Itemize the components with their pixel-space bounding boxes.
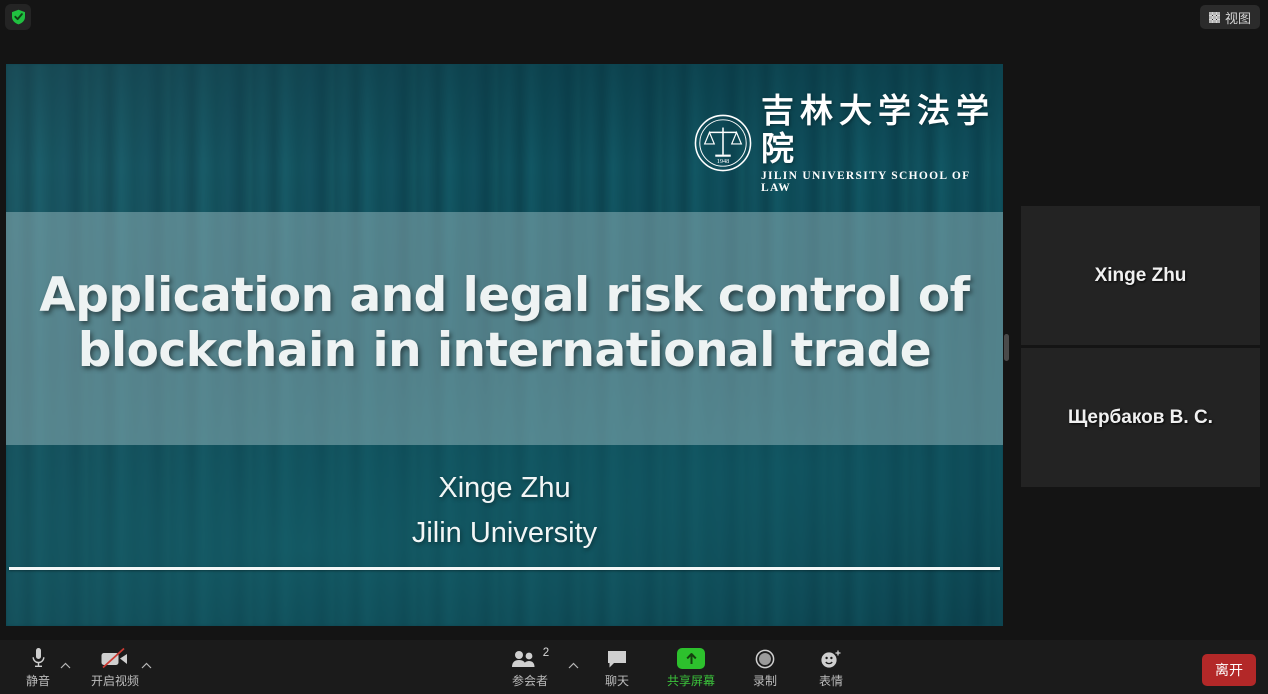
participant-tile[interactable]: Щербаков В. С.: [1021, 348, 1260, 487]
reactions-smiley-plus-icon: [820, 647, 842, 669]
logo-english-name: JILIN UNIVERSITY SCHOOL OF LAW: [761, 170, 1003, 194]
participant-name: Щербаков В. С.: [1068, 407, 1213, 429]
chat-bubble-icon: [606, 647, 628, 669]
video-off-icon: [100, 647, 130, 669]
scales-of-justice-crest-icon: 1948: [694, 114, 752, 172]
encryption-shield-button[interactable]: [5, 4, 31, 30]
record-button[interactable]: 录制: [734, 647, 796, 689]
participants-button[interactable]: ​ 2 参会者: [499, 647, 561, 689]
chevron-up-icon: [60, 662, 71, 669]
chevron-up-icon: [568, 662, 579, 669]
mute-label: 静音: [26, 672, 50, 689]
leave-meeting-label: 离开: [1215, 662, 1243, 678]
shared-screen-area[interactable]: 1948 吉林大学法学院 JILIN UNIVERSITY SCHOOL OF …: [6, 64, 1003, 626]
start-video-button[interactable]: 开启视频: [84, 647, 146, 689]
top-bar: 视图: [0, 0, 1268, 34]
audio-options-caret[interactable]: [60, 661, 71, 672]
view-button-label: 视图: [1225, 8, 1251, 27]
svg-text:1948: 1948: [717, 158, 730, 165]
view-button[interactable]: 视图: [1200, 5, 1260, 29]
panel-splitter-handle[interactable]: [1004, 334, 1009, 361]
participants-filmstrip: Xinge Zhu Щербаков В. С.: [1021, 206, 1260, 490]
chat-label: 聊天: [605, 672, 629, 689]
record-circle-icon: [755, 647, 775, 669]
share-screen-label: 共享屏幕: [667, 672, 715, 689]
start-video-label: 开启视频: [91, 672, 139, 689]
grid-icon: [1209, 12, 1220, 23]
microphone-icon: [31, 647, 46, 669]
slide-divider-line: [9, 567, 1000, 570]
video-options-caret[interactable]: [141, 661, 152, 672]
participants-options-caret[interactable]: [568, 661, 579, 672]
participant-name: Xinge Zhu: [1095, 265, 1187, 287]
participant-tile[interactable]: Xinge Zhu: [1021, 206, 1260, 345]
slide-title: Application and legal risk control of bl…: [6, 268, 1003, 378]
share-screen-up-arrow-icon: [677, 647, 705, 669]
record-label: 录制: [753, 672, 777, 689]
participants-label: 参会者: [512, 672, 548, 689]
shield-check-icon: [11, 9, 26, 25]
chevron-up-icon: [141, 662, 152, 669]
reactions-button[interactable]: 表情: [800, 647, 862, 689]
university-logo: 1948 吉林大学法学院 JILIN UNIVERSITY SCHOOL OF …: [694, 92, 1003, 194]
chat-button[interactable]: 聊天: [586, 647, 648, 689]
participants-icon: ​ 2: [511, 647, 549, 669]
zoom-meeting-window: 视图 1948 吉林大学法学院 JILIN UNIVERSITY SCHOOL …: [0, 0, 1268, 694]
meeting-toolbar: 静音 开启视频: [0, 640, 1268, 694]
logo-chinese-name: 吉林大学法学院: [761, 92, 1003, 168]
leave-meeting-button[interactable]: 离开: [1202, 654, 1256, 686]
participants-count: 2: [543, 647, 549, 659]
slide-author: Xinge Zhu: [6, 472, 1003, 505]
share-screen-button[interactable]: 共享屏幕: [660, 647, 722, 689]
reactions-label: 表情: [819, 672, 843, 689]
slide-affiliation: Jilin University: [6, 517, 1003, 550]
